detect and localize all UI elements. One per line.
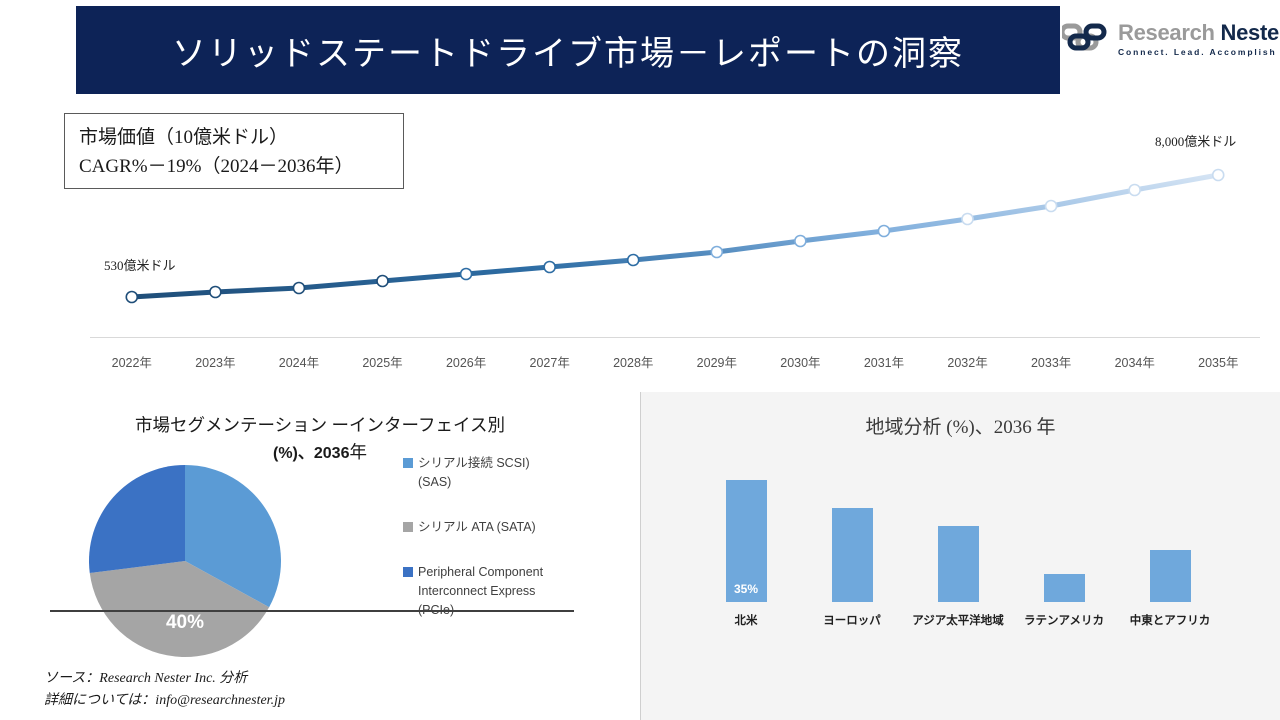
line-data-point: [878, 226, 889, 237]
header-banner: ソリッドステートドライブ市場－レポートの洞察: [76, 6, 1060, 94]
year-axis-tick: 2031年: [842, 352, 926, 371]
regional-bar-labels: 北米ヨーロッパアジア太平洋地域ラテンアメリカ中東とアフリカ: [693, 612, 1223, 628]
legend-color-swatch: [403, 522, 413, 532]
year-axis-tick: 2029年: [675, 352, 759, 371]
line-data-point: [1046, 201, 1057, 212]
region-bar[interactable]: [1150, 550, 1191, 602]
page-title: ソリッドステートドライブ市場－レポートの洞察: [172, 26, 964, 75]
line-data-point: [544, 262, 555, 273]
line-data-point: [461, 269, 472, 280]
region-bar[interactable]: [1044, 574, 1085, 602]
logo-text: Research Nester Connect. Lead. Accomplis…: [1118, 22, 1280, 57]
year-axis-tick: 2032年: [926, 352, 1010, 371]
bar-slot: [1120, 470, 1220, 602]
year-axis-tick: 2027年: [508, 352, 592, 371]
region-bar[interactable]: [832, 508, 873, 602]
segmentation-title-line1: 市場セグメンテーション ーインターフェイス別: [135, 415, 505, 435]
bar-slot: [908, 470, 1008, 602]
logo-tagline: Connect. Lead. Accomplish: [1118, 48, 1280, 57]
line-data-point: [628, 255, 639, 266]
source-line: ソース：Research Nester Inc. 分析: [44, 668, 285, 690]
regional-analysis-panel: 地域分析 (%)、2036 年 35% 北米ヨーロッパアジア太平洋地域ラテンアメ…: [640, 392, 1280, 720]
year-axis-tick: 2026年: [424, 352, 508, 371]
region-bar[interactable]: 35%: [726, 480, 767, 602]
legend-color-swatch: [403, 458, 413, 468]
year-axis-tick: 2025年: [341, 352, 425, 371]
segmentation-title-line2-tail: 年: [349, 442, 367, 462]
region-label: ヨーロッパ: [802, 612, 902, 628]
line-data-point: [293, 283, 304, 294]
regional-analysis-title: 地域分析 (%)、2036 年: [641, 412, 1280, 439]
logo-name-first: Research: [1118, 20, 1215, 45]
bar-slot: 35%: [696, 470, 796, 602]
pie-slice: [89, 465, 185, 573]
region-label: 北米: [696, 612, 796, 628]
year-axis-tick: 2034年: [1093, 352, 1177, 371]
logo-name: Research Nester: [1118, 22, 1280, 44]
year-axis-tick: 2022年: [90, 352, 174, 371]
pie-svg: [88, 464, 282, 658]
year-axis-tick: 2023年: [174, 352, 258, 371]
line-chart-axis: [90, 337, 1260, 338]
segmentation-pie-chart: [88, 464, 282, 663]
line-data-point: [962, 214, 973, 225]
pie-legend: シリアル接続 SCSI)(SAS)シリアル ATA (SATA)Peripher…: [403, 454, 583, 646]
brand-logo[interactable]: Research Nester Connect. Lead. Accomplis…: [1062, 12, 1278, 66]
line-chart-year-labels: 2022年2023年2024年2025年2026年2027年2028年2029年…: [90, 352, 1260, 371]
legend-color-swatch: [403, 567, 413, 577]
region-bar[interactable]: [938, 526, 979, 602]
line-data-point: [795, 236, 806, 247]
legend-item[interactable]: シリアル接続 SCSI)(SAS): [403, 454, 583, 492]
legend-item-label: シリアル接続 SCSI)(SAS): [418, 454, 530, 492]
year-axis-tick: 2024年: [257, 352, 341, 371]
year-axis-tick: 2033年: [1009, 352, 1093, 371]
chain-link-icon: [1062, 22, 1110, 57]
bar-value-label: 35%: [734, 582, 758, 596]
bar-chart-baseline: [50, 610, 574, 612]
line-data-point: [377, 276, 388, 287]
contact-line: 詳細については：info@researchnester.jp: [44, 690, 285, 712]
logo-name-second: Nester: [1220, 20, 1280, 45]
year-axis-tick: 2028年: [591, 352, 675, 371]
line-chart-svg: [90, 120, 1250, 335]
source-footer: ソース：Research Nester Inc. 分析 詳細については：info…: [44, 668, 285, 712]
legend-item[interactable]: シリアル ATA (SATA): [403, 518, 583, 537]
line-data-point: [1129, 185, 1140, 196]
year-axis-tick: 2035年: [1177, 352, 1261, 371]
bar-slot: [1014, 470, 1114, 602]
region-label: 中東とアフリカ: [1120, 612, 1220, 628]
line-data-point: [711, 247, 722, 258]
line-data-point: [1213, 170, 1224, 181]
line-data-point: [210, 287, 221, 298]
region-label: ラテンアメリカ: [1014, 612, 1114, 628]
line-data-point: [126, 292, 137, 303]
line-start-value-label: 530億米ドル: [104, 255, 176, 274]
year-axis-tick: 2030年: [759, 352, 843, 371]
line-end-value-label: 8,000億米ドル: [1155, 131, 1236, 150]
segmentation-title-line2: (%)、2036: [273, 445, 349, 462]
market-forecast-line-chart: [90, 120, 1250, 335]
region-label: アジア太平洋地域: [908, 612, 1008, 628]
bar-slot: [802, 470, 902, 602]
regional-bar-chart: 35%: [693, 470, 1223, 602]
legend-item-label: シリアル ATA (SATA): [418, 518, 536, 537]
